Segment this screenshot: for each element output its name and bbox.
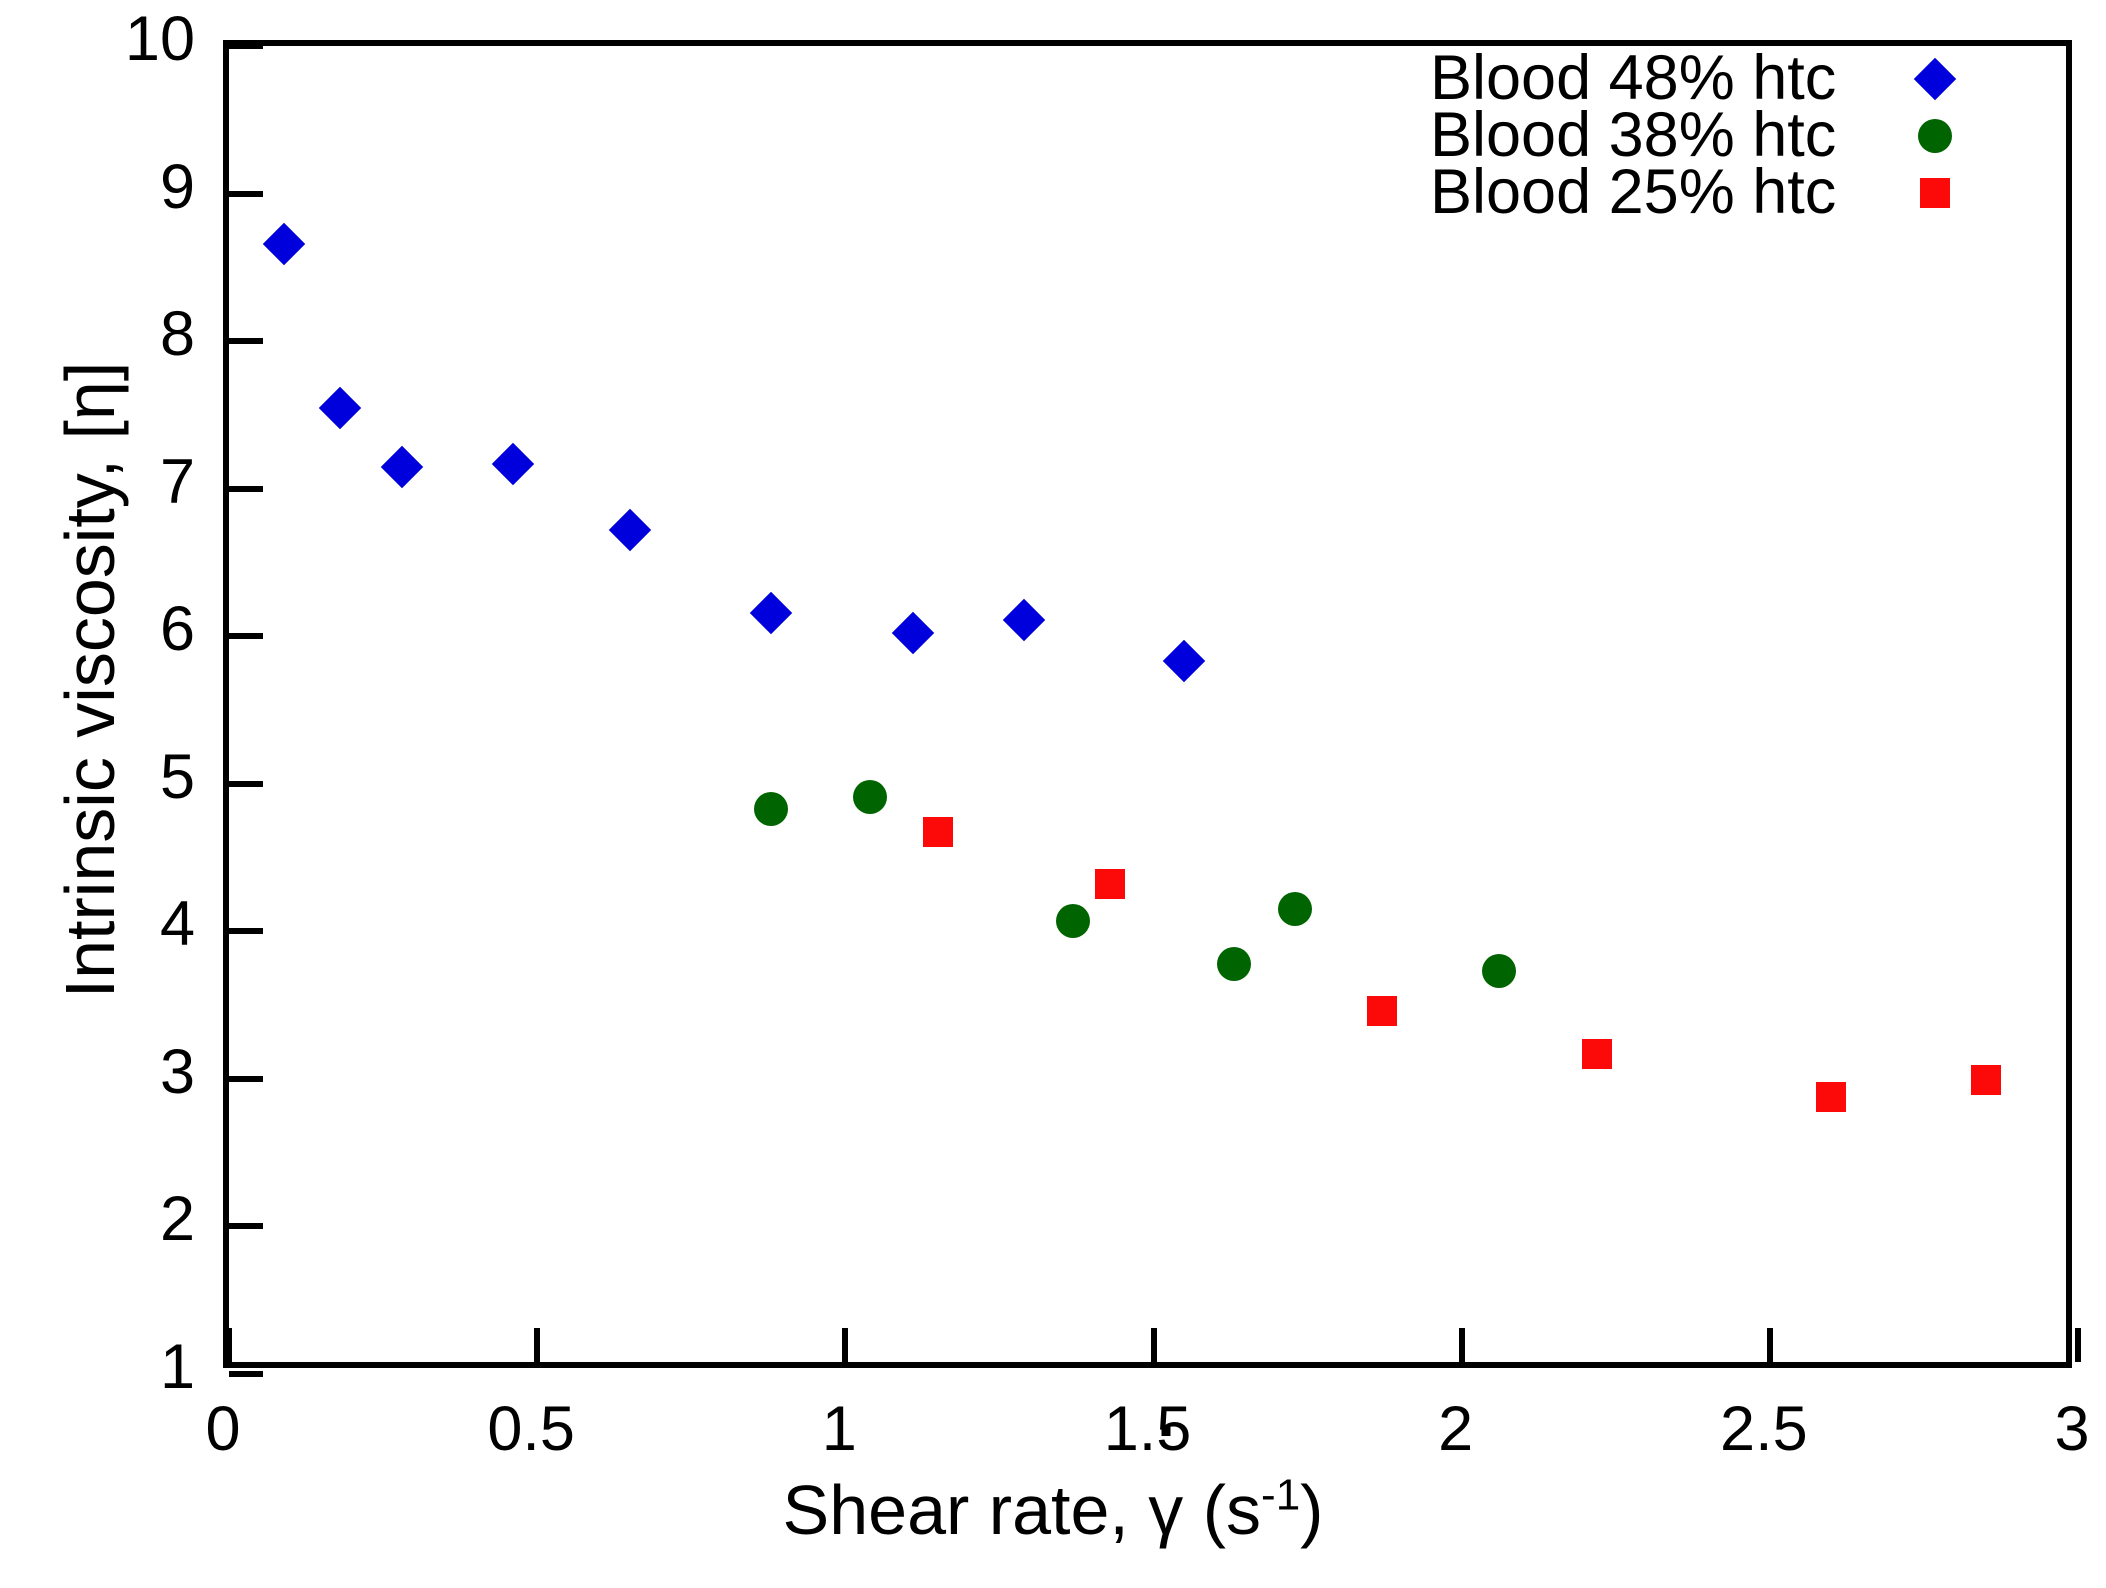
data-point-diamond	[319, 386, 361, 428]
scatter-plot-figure: 12345678910 00.511.522.53 Shear rate, γ …	[0, 0, 2106, 1588]
y-axis-tick	[229, 633, 263, 639]
legend-key	[1900, 50, 1970, 107]
legend-entry[interactable]: Blood 48% htc	[1430, 50, 2030, 107]
data-point-diamond	[263, 223, 305, 265]
legend-key	[1900, 107, 1970, 164]
data-point-square	[1582, 1039, 1612, 1069]
data-point-diamond	[491, 442, 533, 484]
y-axis-tick	[229, 928, 263, 934]
gamma-dot-symbol: γ	[1148, 1470, 1183, 1550]
gamma-glyph: γ	[1148, 1471, 1183, 1549]
x-axis-title: Shear rate, γ (s-1)	[0, 1470, 2106, 1550]
x-axis-exponent: -1	[1261, 1471, 1300, 1520]
x-axis-tick	[226, 1328, 232, 1362]
x-tick-label: 1.5	[1068, 1398, 1228, 1461]
x-axis-tick	[534, 1328, 540, 1362]
data-point-diamond	[1163, 640, 1205, 682]
x-axis-unit-close: )	[1300, 1471, 1323, 1549]
data-point-circle	[1278, 892, 1312, 926]
x-axis-tick	[2075, 1328, 2081, 1362]
legend-label: Blood 25% htc	[1430, 161, 1900, 224]
x-tick-label: 3	[1992, 1398, 2106, 1461]
x-tick-label: 1	[759, 1398, 919, 1461]
y-axis-tick	[229, 1076, 263, 1082]
y-axis-tick	[229, 1371, 263, 1377]
y-axis-tick	[229, 43, 263, 49]
y-axis-tick	[229, 486, 263, 492]
y-axis-tick	[229, 1223, 263, 1229]
data-point-circle	[1217, 947, 1251, 981]
x-tick-label: 0.5	[451, 1398, 611, 1461]
y-axis-tick	[229, 781, 263, 787]
diamond-icon	[1914, 57, 1956, 99]
x-tick-label: 0	[143, 1398, 303, 1461]
x-axis-tick	[842, 1328, 848, 1362]
data-point-diamond	[892, 612, 934, 654]
x-axis-unit-open: (s	[1183, 1471, 1261, 1549]
data-point-square	[923, 817, 953, 847]
data-point-diamond	[1003, 599, 1045, 641]
dot-accent-icon	[1161, 1427, 1170, 1436]
x-axis-title-prefix: Shear rate,	[783, 1471, 1149, 1549]
legend-key	[1900, 164, 1970, 221]
x-axis-tick	[1767, 1328, 1773, 1362]
data-point-square	[1095, 869, 1125, 899]
data-point-diamond	[608, 509, 650, 551]
y-axis-tick	[229, 191, 263, 197]
data-point-circle	[1482, 954, 1516, 988]
data-point-diamond	[750, 591, 792, 633]
y-axis-tick	[229, 338, 263, 344]
x-axis-tick	[1151, 1328, 1157, 1362]
x-tick-label: 2	[1376, 1398, 1536, 1461]
data-point-diamond	[380, 445, 422, 487]
data-point-circle	[754, 792, 788, 826]
square-icon	[1920, 178, 1950, 208]
x-tick-label: 2.5	[1684, 1398, 1844, 1461]
data-point-square	[1971, 1065, 2001, 1095]
circle-icon	[1918, 119, 1952, 153]
x-axis-tick	[1459, 1328, 1465, 1362]
y-axis-title: Intrinsic viscosity, [η]	[50, 30, 130, 1330]
y-tick-label: 1	[45, 1336, 195, 1399]
plot-frame	[223, 40, 2072, 1368]
legend: Blood 48% htcBlood 38% htcBlood 25% htc	[1430, 50, 2030, 221]
legend-entry[interactable]: Blood 25% htc	[1430, 164, 2030, 221]
data-point-circle	[853, 780, 887, 814]
data-point-square	[1367, 996, 1397, 1026]
plot-area	[229, 46, 2066, 1362]
data-point-circle	[1056, 904, 1090, 938]
data-point-square	[1816, 1082, 1846, 1112]
legend-entry[interactable]: Blood 38% htc	[1430, 107, 2030, 164]
